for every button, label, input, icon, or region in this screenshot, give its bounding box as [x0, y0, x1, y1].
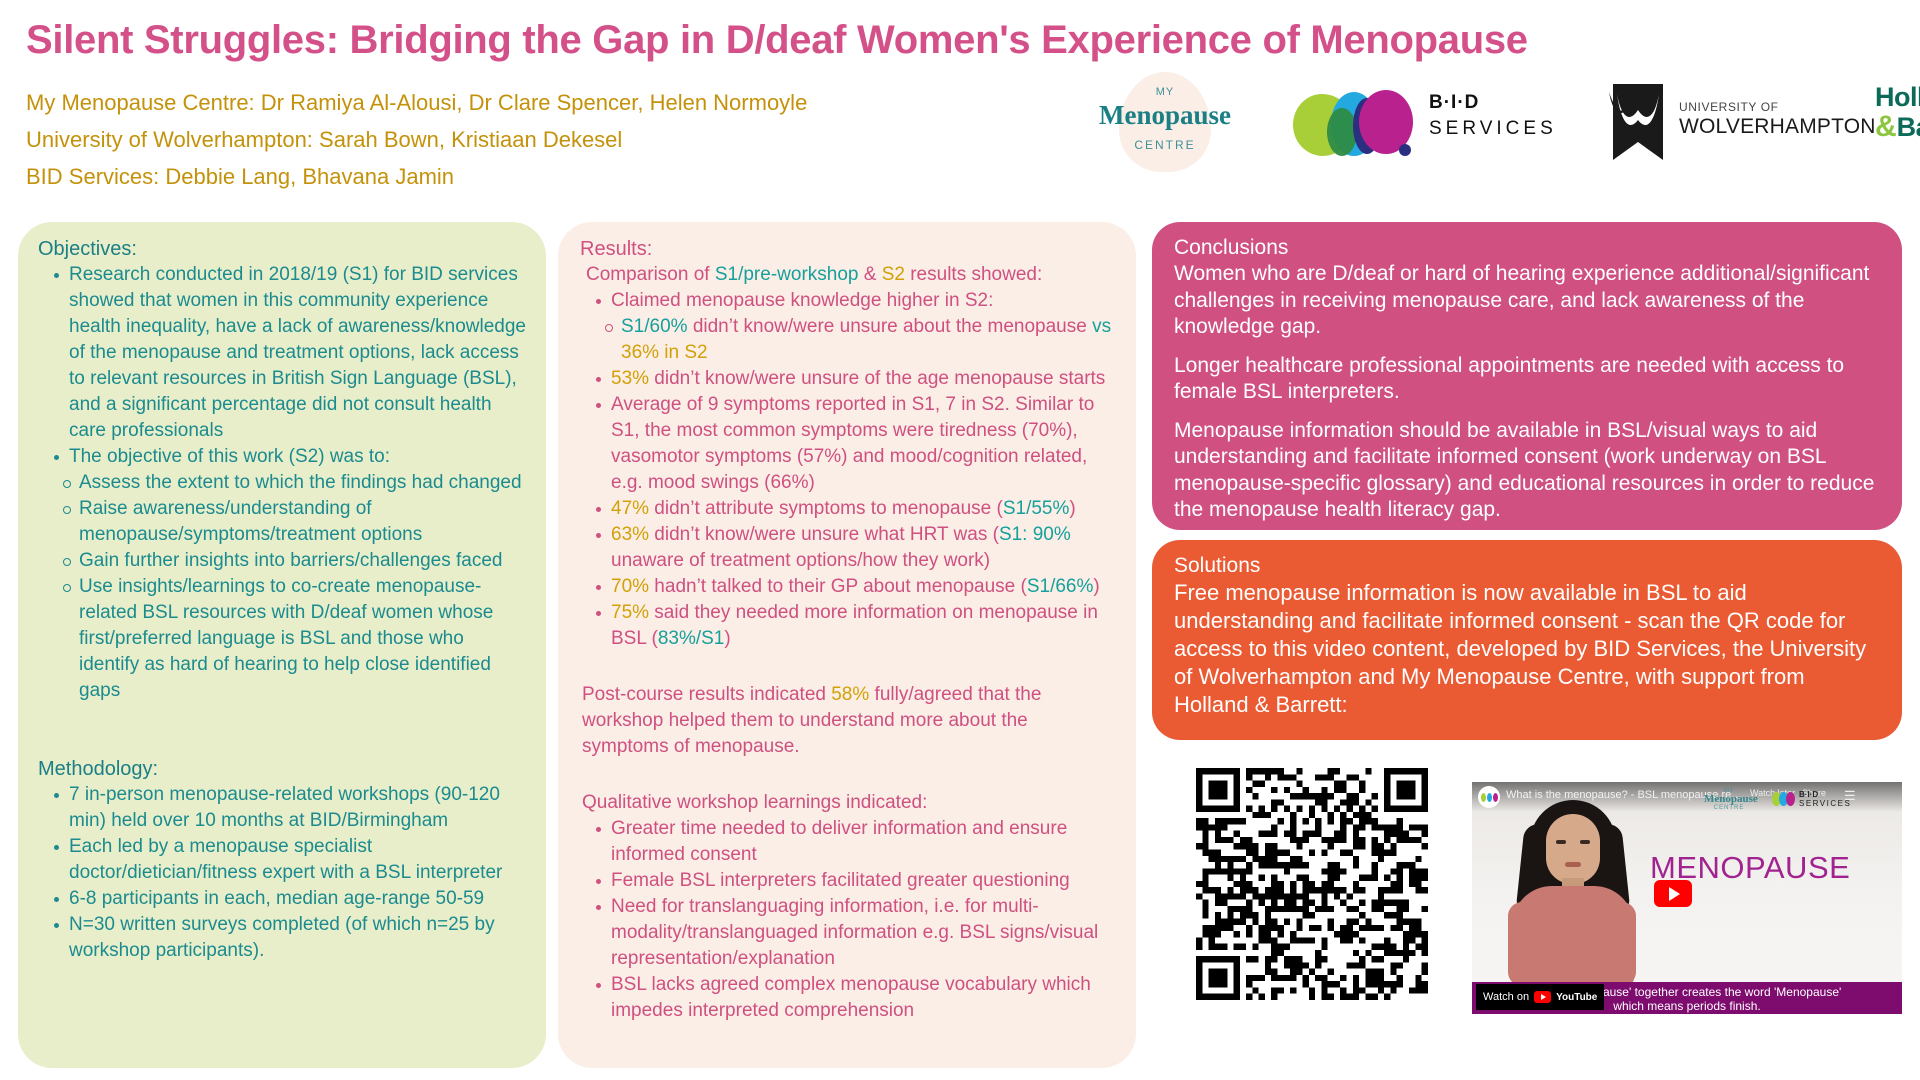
- list-item: Claimed menopause knowledge higher in S2…: [592, 288, 1116, 314]
- poster-root: Silent Struggles: Bridging the Gap in D/…: [0, 0, 1920, 1080]
- results-intro-s1: S1/pre-workshop: [715, 264, 859, 285]
- results-b4-ref: S1/55%: [1003, 498, 1070, 519]
- results-b5-close: unaware of treatment options/how they wo…: [611, 550, 990, 571]
- bid-blob-dot: [1399, 144, 1411, 156]
- results-b5-ref: S1: 90%: [999, 524, 1071, 545]
- results-b1s1-d: 36% in S2: [621, 342, 708, 363]
- presenter-torso: [1512, 886, 1634, 986]
- video-mmc-centre: CENTRE: [1704, 805, 1754, 811]
- holland-barrett-logo: Holland & Barrett: [1875, 82, 1920, 162]
- results-list-main: 53% didn’t know/were unsure of the age m…: [592, 366, 1116, 652]
- panel-spacer: [1174, 341, 1880, 353]
- bid-logo-line1: B·I·D: [1429, 92, 1557, 114]
- mmc-logo-main: Menopause: [1085, 100, 1245, 131]
- wolverhampton-shield-icon: [1607, 84, 1669, 160]
- list-item: 47% didn’t attribute symptoms to menopau…: [592, 496, 1116, 522]
- avatar-dot-blue: [1487, 793, 1492, 802]
- logo-strip: MY Menopause CENTRE B·I·D SERVICES: [1085, 72, 1915, 172]
- results-intro: Comparison of S1/pre-workshop & S2 resul…: [586, 262, 1116, 288]
- objectives-sublist: Assess the extent to which the findings …: [60, 470, 526, 704]
- author-line-mmc: My Menopause Centre: Dr Ramiya Al-Alousi…: [26, 84, 807, 121]
- qualitative-heading: Qualitative workshop learnings indicated…: [582, 790, 1116, 816]
- uow-logo-big: WOLVERHAMPTON: [1679, 115, 1876, 139]
- author-line-bid: BID Services: Debbie Lang, Bhavana Jamin: [26, 158, 807, 195]
- qr-code[interactable]: [1196, 768, 1428, 1000]
- results-intro-s2: S2: [882, 264, 905, 285]
- video-presenter: [1508, 800, 1638, 982]
- video-bid-watermark: B·I·D SERVICES: [1772, 790, 1882, 816]
- results-b6-close: ): [1093, 576, 1099, 597]
- presenter-mouth: [1565, 862, 1581, 867]
- poster-header: Silent Struggles: Bridging the Gap in D/…: [0, 0, 1920, 200]
- uow-logo-text: UNIVERSITY OF WOLVERHAMPTON: [1679, 100, 1876, 139]
- results-b5-pct: 63%: [611, 524, 649, 545]
- list-item: S1/60% didn’t know/were unsure about the…: [602, 314, 1116, 366]
- list-item: Gain further insights into barriers/chal…: [60, 548, 526, 574]
- video-bid-blob-magenta: [1786, 792, 1795, 806]
- bid-blobs-icon: [1481, 793, 1498, 802]
- conclusions-paragraph-1: Women who are D/deaf or hard of hearing …: [1174, 261, 1880, 341]
- watch-on-youtube-button[interactable]: Watch on YouTube: [1476, 984, 1604, 1010]
- list-item: N=30 written surveys completed (of which…: [50, 912, 526, 964]
- results-b4-pct: 47%: [611, 498, 649, 519]
- panel-spacer: [1174, 406, 1880, 418]
- conclusions-panel: Conclusions Women who are D/deaf or hard…: [1152, 222, 1902, 530]
- list-item: Raise awareness/understanding of menopau…: [60, 496, 526, 548]
- results-intro-a: Comparison of: [586, 264, 715, 285]
- qualitative-list: Greater time needed to deliver informati…: [592, 816, 1116, 1024]
- results-b6-pct: 70%: [611, 576, 649, 597]
- author-line-uow: University of Wolverhampton: Sarah Bown,…: [26, 121, 807, 158]
- channel-avatar[interactable]: [1478, 786, 1500, 808]
- list-item: Each led by a menopause specialist docto…: [50, 834, 526, 886]
- list-item: 7 in-person menopause-related workshops …: [50, 782, 526, 834]
- results-b7-close: ): [724, 628, 730, 649]
- bid-logo-text: B·I·D SERVICES: [1429, 92, 1557, 140]
- results-b6-text: hadn’t talked to their GP about menopaus…: [649, 576, 1027, 597]
- list-item: Research conducted in 2018/19 (S1) for B…: [50, 262, 526, 444]
- results-b1s1-a: S1/60%: [621, 316, 688, 337]
- avatar-dot-green: [1481, 793, 1486, 802]
- hb-logo-ampersand: &: [1875, 112, 1897, 142]
- list-item: 75% said they needed more information on…: [592, 600, 1116, 652]
- list-item: BSL lacks agreed complex menopause vocab…: [592, 972, 1116, 1024]
- list-item: 70% hadn’t talked to their GP about meno…: [592, 574, 1116, 600]
- list-item: 63% didn’t know/were unsure what HRT was…: [592, 522, 1116, 574]
- methodology-list: 7 in-person menopause-related workshops …: [50, 782, 526, 964]
- qr-code-canvas[interactable]: [1196, 768, 1428, 1000]
- results-b2-text: didn’t know/were unsure of the age menop…: [649, 368, 1105, 389]
- results-sublist: S1/60% didn’t know/were unsure about the…: [602, 314, 1116, 366]
- presenter-eye-right: [1580, 840, 1590, 844]
- presenter-face: [1546, 814, 1600, 884]
- video-thumbnail[interactable]: MENOPAUSE What is the menopause? - BSL m…: [1472, 782, 1902, 1014]
- results-b1s1-c: vs: [1092, 316, 1111, 337]
- youtube-triangle: [1541, 994, 1546, 1000]
- postcourse-a: Post-course results indicated: [582, 684, 831, 705]
- bid-services-logo: B·I·D SERVICES: [1293, 86, 1583, 160]
- hb-logo-barrett: Barrett: [1897, 112, 1920, 142]
- list-item: Female BSL interpreters facilitated grea…: [592, 868, 1116, 894]
- objectives-heading: Objectives:: [38, 236, 526, 262]
- play-triangle-icon: [1669, 887, 1680, 901]
- objectives-methodology-panel: Objectives: Research conducted in 2018/1…: [18, 222, 546, 1068]
- youtube-icon: [1534, 991, 1551, 1003]
- results-list-top: Claimed menopause knowledge higher in S2…: [592, 288, 1116, 314]
- results-b4-text: didn’t attribute symptoms to menopause (: [649, 498, 1003, 519]
- mmc-logo-my: MY: [1085, 86, 1245, 98]
- video-bid-line1: B·I·D: [1799, 790, 1851, 799]
- list-item: 53% didn’t know/were unsure of the age m…: [592, 366, 1116, 392]
- conclusions-heading: Conclusions: [1174, 234, 1880, 261]
- results-b5-text: didn’t know/were unsure what HRT was (: [649, 524, 999, 545]
- objectives-list: Research conducted in 2018/19 (S1) for B…: [50, 262, 526, 470]
- results-b2-pct: 53%: [611, 368, 649, 389]
- panel-spacer: [580, 760, 1116, 790]
- presenter-eye-left: [1556, 840, 1566, 844]
- list-item: Greater time needed to deliver informati…: [592, 816, 1116, 868]
- bid-logo-line2: SERVICES: [1429, 118, 1557, 140]
- mmc-logo-centre: CENTRE: [1085, 138, 1245, 152]
- list-item: Use insights/learnings to co-create meno…: [60, 574, 526, 704]
- results-panel: Results: Comparison of S1/pre-workshop &…: [558, 222, 1136, 1068]
- conclusions-paragraph-3: Menopause information should be availabl…: [1174, 418, 1880, 524]
- list-item: 6-8 participants in each, median age-ran…: [50, 886, 526, 912]
- hb-logo-holland: Holland: [1875, 82, 1920, 112]
- results-b4-close: ): [1069, 498, 1075, 519]
- my-menopause-centre-logo: MY Menopause CENTRE: [1085, 72, 1245, 172]
- youtube-label: YouTube: [1556, 992, 1597, 1003]
- panel-spacer: [38, 704, 526, 756]
- results-b6-ref: S1/66%: [1027, 576, 1094, 597]
- results-heading: Results:: [580, 236, 1116, 262]
- results-b1s1-b: didn’t know/were unsure about the menopa…: [688, 316, 1093, 337]
- author-list: My Menopause Centre: Dr Ramiya Al-Alousi…: [26, 84, 807, 195]
- uow-logo-small: UNIVERSITY OF: [1679, 100, 1876, 114]
- solutions-body: Free menopause information is now availa…: [1174, 579, 1880, 719]
- conclusions-paragraph-2: Longer healthcare professional appointme…: [1174, 353, 1880, 406]
- solutions-heading: Solutions: [1174, 552, 1880, 579]
- results-intro-b: &: [858, 264, 881, 285]
- results-intro-c: results showed:: [905, 264, 1042, 285]
- university-wolverhampton-logo: UNIVERSITY OF WOLVERHAMPTON: [1607, 84, 1867, 160]
- list-item: Need for translanguaging information, i.…: [592, 894, 1116, 972]
- avatar-dot-magenta: [1493, 793, 1498, 802]
- hb-logo-row: & Barrett: [1875, 112, 1920, 142]
- results-b7-ref: 83%/S1: [658, 628, 725, 649]
- play-button[interactable]: [1654, 880, 1692, 907]
- panel-spacer: [580, 652, 1116, 682]
- postcourse-pct: 58%: [831, 684, 869, 705]
- video-mmc-watermark: MY Menopause CENTRE: [1704, 788, 1754, 814]
- methodology-heading: Methodology:: [38, 756, 526, 782]
- results-postcourse: Post-course results indicated 58% fully/…: [582, 682, 1116, 760]
- list-item: Average of 9 symptoms reported in S1, 7 …: [592, 392, 1116, 496]
- video-mmc-main: Menopause: [1704, 794, 1754, 805]
- page-title: Silent Struggles: Bridging the Gap in D/…: [26, 18, 1528, 63]
- results-b7-pct: 75%: [611, 602, 649, 623]
- list-item: Assess the extent to which the findings …: [60, 470, 526, 496]
- list-item: The objective of this work (S2) was to:: [50, 444, 526, 470]
- bid-blobs-icon: [1293, 90, 1419, 156]
- watch-on-label: Watch on: [1483, 991, 1529, 1003]
- solutions-panel: Solutions Free menopause information is …: [1152, 540, 1902, 740]
- video-bid-line2: SERVICES: [1799, 799, 1851, 808]
